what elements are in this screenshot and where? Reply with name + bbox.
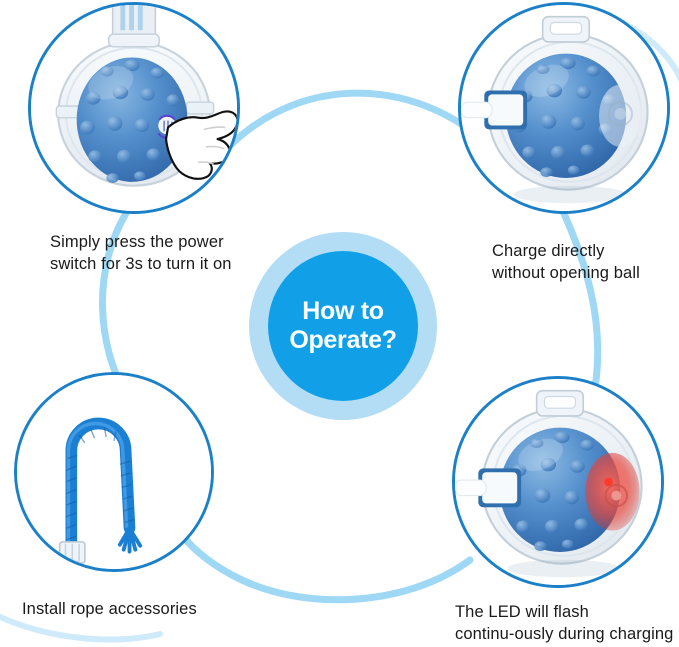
led-indicator-red: [585, 453, 639, 531]
step-image-power-on[interactable]: [28, 2, 240, 214]
center-badge: How to Operate?: [268, 251, 418, 401]
infographic-stage: Simply press the power switch for 3s to …: [0, 0, 679, 647]
rope-illustration: [17, 375, 211, 569]
charge-directly-illustration: [461, 5, 667, 211]
center-badge-label: How to Operate?: [289, 297, 396, 356]
step-image-install-rope[interactable]: [14, 372, 214, 572]
caption-install-rope: Install rope accessories: [22, 598, 197, 620]
caption-charge-directly: Charge directly without opening ball: [492, 240, 640, 285]
caption-led-flash: The LED will flash continu-ously during …: [455, 601, 673, 646]
power-on-illustration: [31, 5, 237, 211]
caption-power-on: Simply press the power switch for 3s to …: [50, 231, 232, 276]
step-image-led-flash[interactable]: [452, 376, 664, 588]
led-flash-illustration: [455, 379, 661, 585]
step-image-charge-directly[interactable]: [458, 2, 670, 214]
